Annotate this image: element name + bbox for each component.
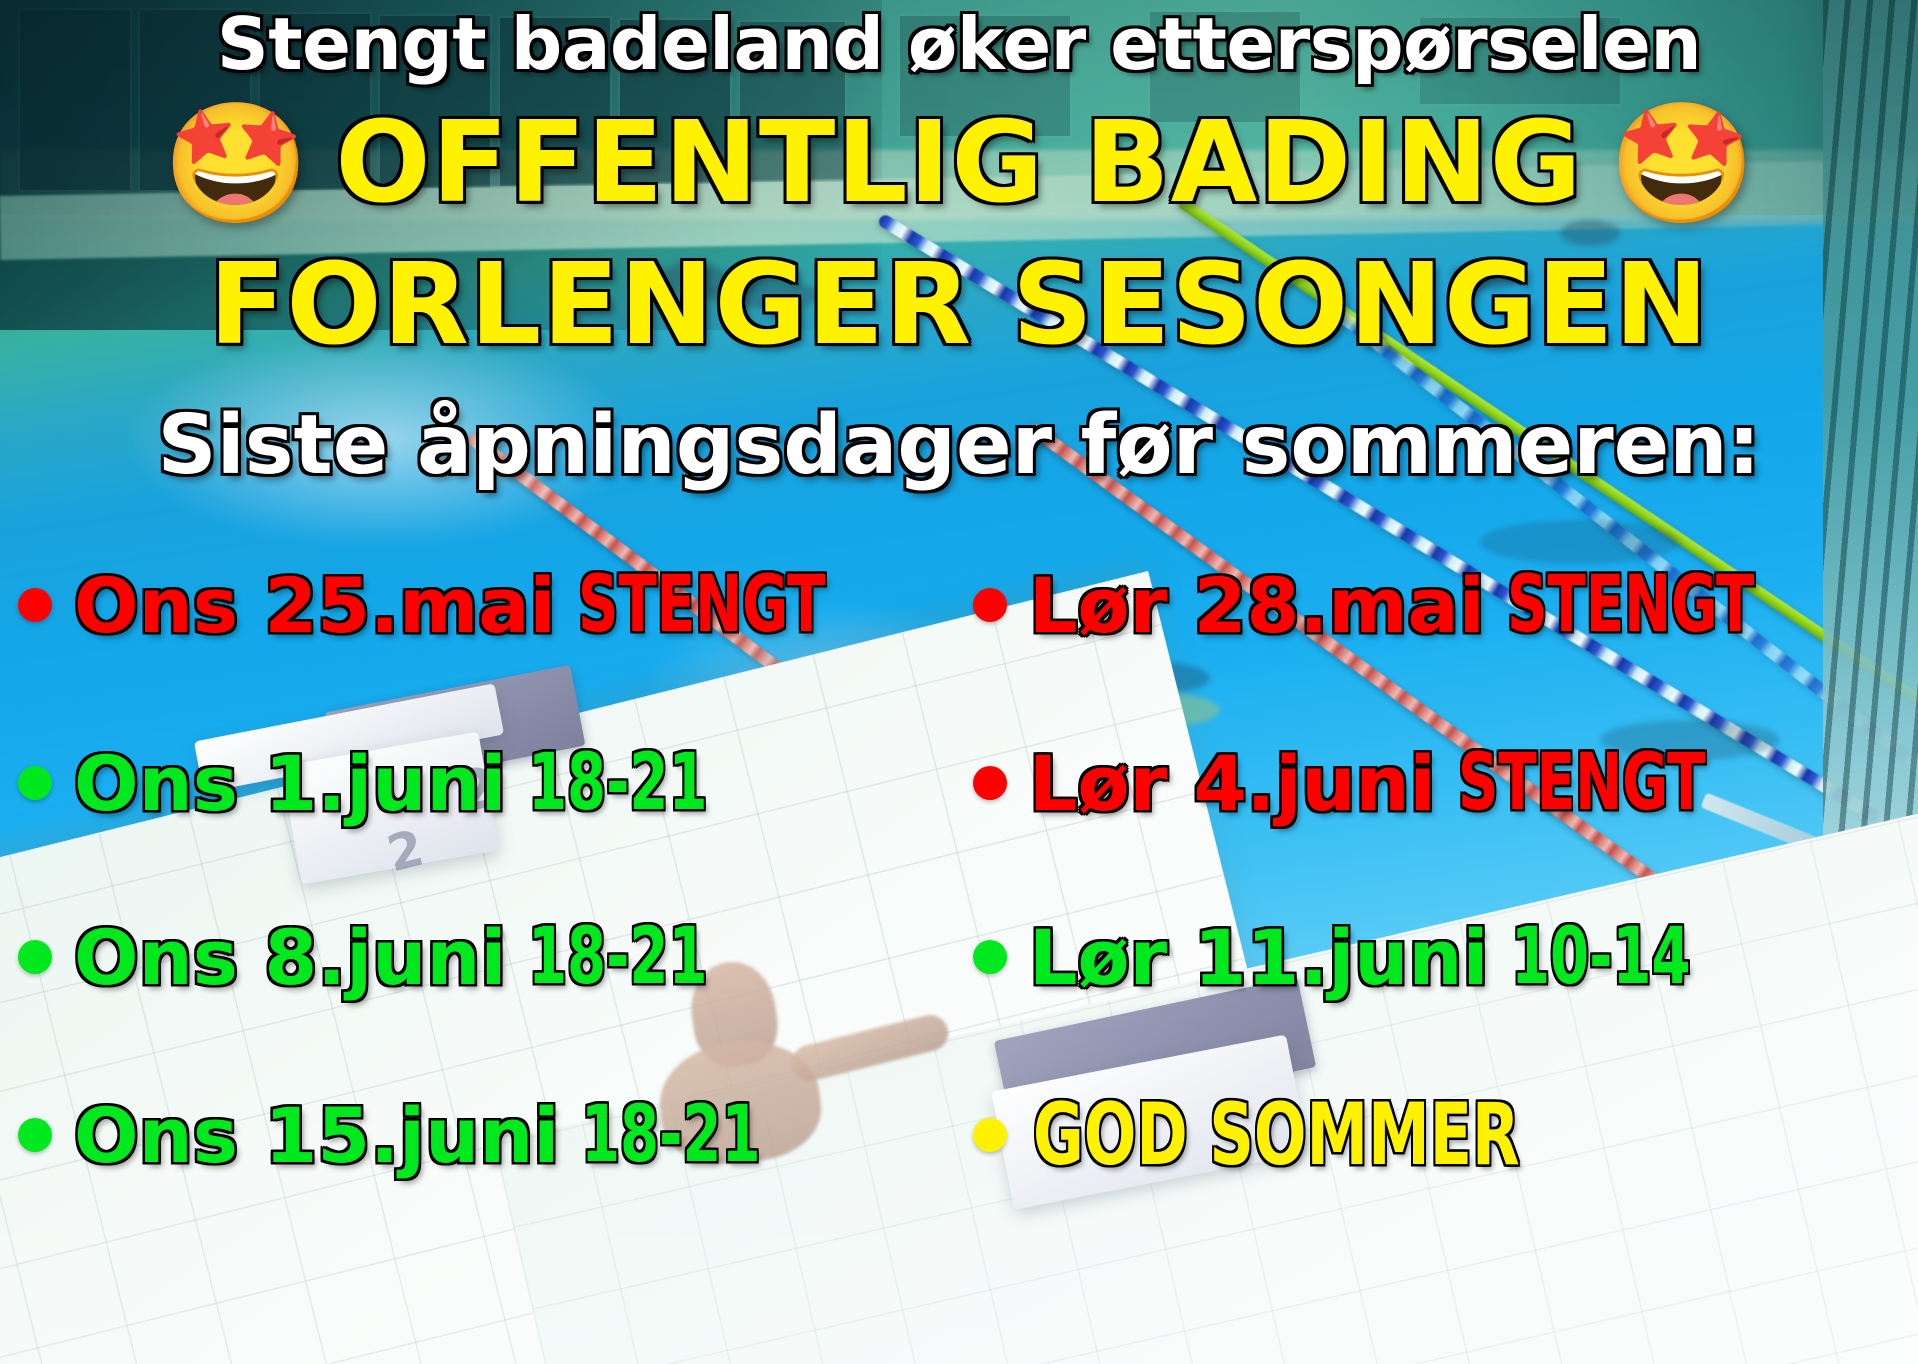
schedule-list: Ons 25.mai STENGT Lør 28.mai STENGT Ons … <box>0 540 1918 1364</box>
star-struck-emoji-right: 🤩 <box>1609 104 1756 222</box>
bullet-icon <box>973 588 1007 622</box>
schedule-day-label: Lør 4.juni <box>1029 739 1436 828</box>
schedule-day-label: Ons 8.juni <box>74 913 506 1002</box>
schedule-day-label: Ons 15.juni <box>74 1091 559 1180</box>
schedule-day-label: Ons 25.mai <box>74 561 556 650</box>
schedule-day-label: Ons 1.juni <box>74 739 506 828</box>
bullet-icon <box>18 766 52 800</box>
schedule-status-label: 18-21 <box>528 912 708 1002</box>
bullet-icon <box>18 940 52 974</box>
schedule-row: Ons 15.juni 18-21 GOD SOMMER <box>0 1080 1918 1190</box>
schedule-entry: Ons 25.mai STENGT <box>0 550 963 660</box>
schedule-status-label: STENGT <box>578 560 825 650</box>
schedule-status-label: 10-14 <box>1511 912 1691 1002</box>
schedule-entry: Lør 4.juni STENGT <box>963 728 1918 838</box>
schedule-entry: GOD SOMMER <box>963 1080 1918 1190</box>
schedule-status-label: 18-21 <box>528 738 708 828</box>
schedule-day-label: Lør 11.juni <box>1029 913 1489 1002</box>
schedule-status-label: STENGT <box>1458 738 1705 828</box>
schedule-entry: Ons 1.juni 18-21 <box>0 728 963 838</box>
schedule-status-label: 18-21 <box>581 1090 761 1180</box>
bullet-icon <box>18 588 52 622</box>
schedule-row: Ons 1.juni 18-21 Lør 4.juni STENGT <box>0 728 1918 838</box>
title-line-2: FORLENGER SESONGEN <box>0 240 1918 370</box>
title-text-offentlig-bading: OFFENTLIG BADING <box>335 98 1582 228</box>
schedule-entry: Ons 8.juni 18-21 <box>0 902 963 1012</box>
bullet-icon <box>973 940 1007 974</box>
poster-content: Stengt badeland øker etterspørselen 🤩 OF… <box>0 0 1918 1364</box>
title-line-1: 🤩 OFFENTLIG BADING 🤩 <box>0 98 1918 228</box>
schedule-status-label: STENGT <box>1507 560 1754 650</box>
schedule-day-label: Lør 28.mai <box>1029 561 1485 650</box>
bullet-icon <box>18 1118 52 1152</box>
schedule-entry: Lør 11.juni 10-14 <box>963 902 1918 1012</box>
summer-greeting-label: GOD SOMMER <box>1033 1085 1520 1185</box>
schedule-row: Ons 25.mai STENGT Lør 28.mai STENGT <box>0 550 1918 660</box>
bullet-icon <box>973 1118 1007 1152</box>
title-text-forlenger-sesongen: FORLENGER SESONGEN <box>209 240 1709 370</box>
page-headline: Stengt badeland øker etterspørselen <box>0 2 1918 86</box>
bullet-icon <box>973 766 1007 800</box>
schedule-entry: Ons 15.juni 18-21 <box>0 1080 963 1190</box>
star-struck-emoji-left: 🤩 <box>162 104 309 222</box>
page-subtitle: Siste åpningsdager før sommeren: <box>0 398 1918 493</box>
schedule-entry: Lør 28.mai STENGT <box>963 550 1918 660</box>
poster-root: 2 2 Stengt badeland øker etterspørselen … <box>0 0 1918 1364</box>
schedule-row: Ons 8.juni 18-21 Lør 11.juni 10-14 <box>0 902 1918 1012</box>
